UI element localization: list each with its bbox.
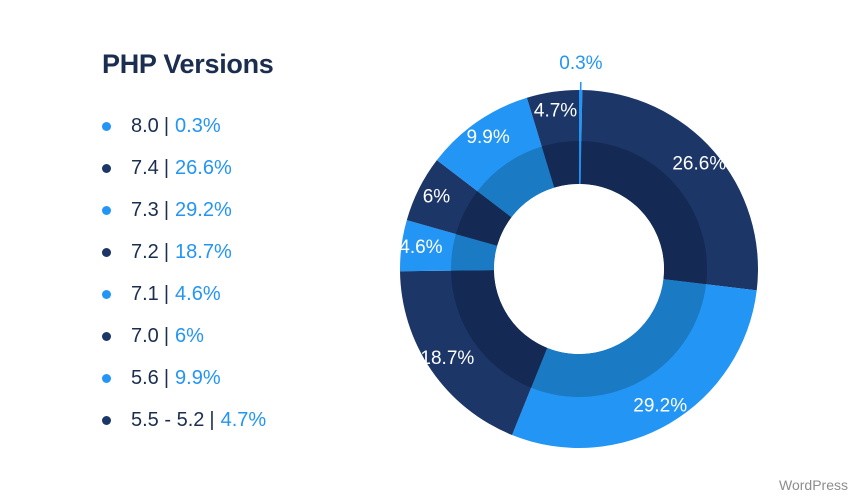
legend-bullet-icon [102,374,111,383]
legend-item-separator: | [164,157,169,180]
donut-label-leader-line [580,82,581,184]
legend-item-label: 5.5 - 5.2 [131,409,204,432]
legend-item-separator: | [164,283,169,306]
legend-bullet-icon [102,248,111,257]
legend-item-percent: 4.6% [175,283,221,306]
legend-item[interactable]: 7.0|6% [102,316,402,358]
legend-item-label: 7.3 [131,199,159,222]
donut-slice-label: 4.6% [399,237,442,258]
donut-slice-label: 29.2% [633,395,687,416]
donut-slice-label: 6% [423,187,451,208]
legend-panel: PHP Versions 8.0|0.3%7.4|26.6%7.3|29.2%7… [102,50,402,442]
donut-slice-label: 9.9% [466,127,509,148]
legend-item-separator: | [164,241,169,264]
donut-slice-label: 26.6% [672,153,726,174]
legend-item-separator: | [209,409,214,432]
donut-chart-svg: 0.3%26.6%29.2%18.7%4.6%6%9.9%4.7% [400,90,760,450]
legend-bullet-icon [102,332,111,341]
legend-bullet-icon [102,164,111,173]
legend-item[interactable]: 5.5 - 5.2|4.7% [102,400,402,442]
legend-item-percent: 4.7% [221,409,267,432]
donut-slice-label: 18.7% [420,348,474,369]
legend-item[interactable]: 7.2|18.7% [102,232,402,274]
legend-bullet-icon [102,206,111,215]
page-title: PHP Versions [102,50,402,80]
legend-item-label: 7.0 [131,325,159,348]
legend-item[interactable]: 8.0|0.3% [102,106,402,148]
watermark: WordPress [779,477,848,493]
legend-item-label: 7.2 [131,241,159,264]
legend-bullet-icon [102,122,111,131]
donut-hole [494,184,664,354]
donut-chart: 0.3%26.6%29.2%18.7%4.6%6%9.9%4.7% [400,90,760,450]
donut-slice-label: 4.7% [534,100,577,121]
legend-list: 8.0|0.3%7.4|26.6%7.3|29.2%7.2|18.7%7.1|4… [102,106,402,442]
legend-item-percent: 6% [175,325,204,348]
legend-item-separator: | [164,115,169,138]
legend-bullet-icon [102,416,111,425]
legend-item[interactable]: 5.6|9.9% [102,358,402,400]
legend-item-separator: | [164,199,169,222]
legend-item[interactable]: 7.1|4.6% [102,274,402,316]
donut-slice-label: 0.3% [559,53,602,74]
legend-item-label: 8.0 [131,115,159,138]
legend-item-label: 5.6 [131,367,159,390]
legend-item-percent: 26.6% [175,157,232,180]
legend-item-label: 7.4 [131,157,159,180]
legend-item[interactable]: 7.4|26.6% [102,148,402,190]
legend-item-percent: 0.3% [175,115,221,138]
legend-bullet-icon [102,290,111,299]
legend-item-separator: | [164,367,169,390]
legend-item-percent: 18.7% [175,241,232,264]
chart-page: PHP Versions 8.0|0.3%7.4|26.6%7.3|29.2%7… [0,0,862,501]
legend-item-separator: | [164,325,169,348]
legend-item-label: 7.1 [131,283,159,306]
donut-leader-lines [580,82,581,184]
legend-item-percent: 29.2% [175,199,232,222]
legend-item-percent: 9.9% [175,367,221,390]
legend-item[interactable]: 7.3|29.2% [102,190,402,232]
